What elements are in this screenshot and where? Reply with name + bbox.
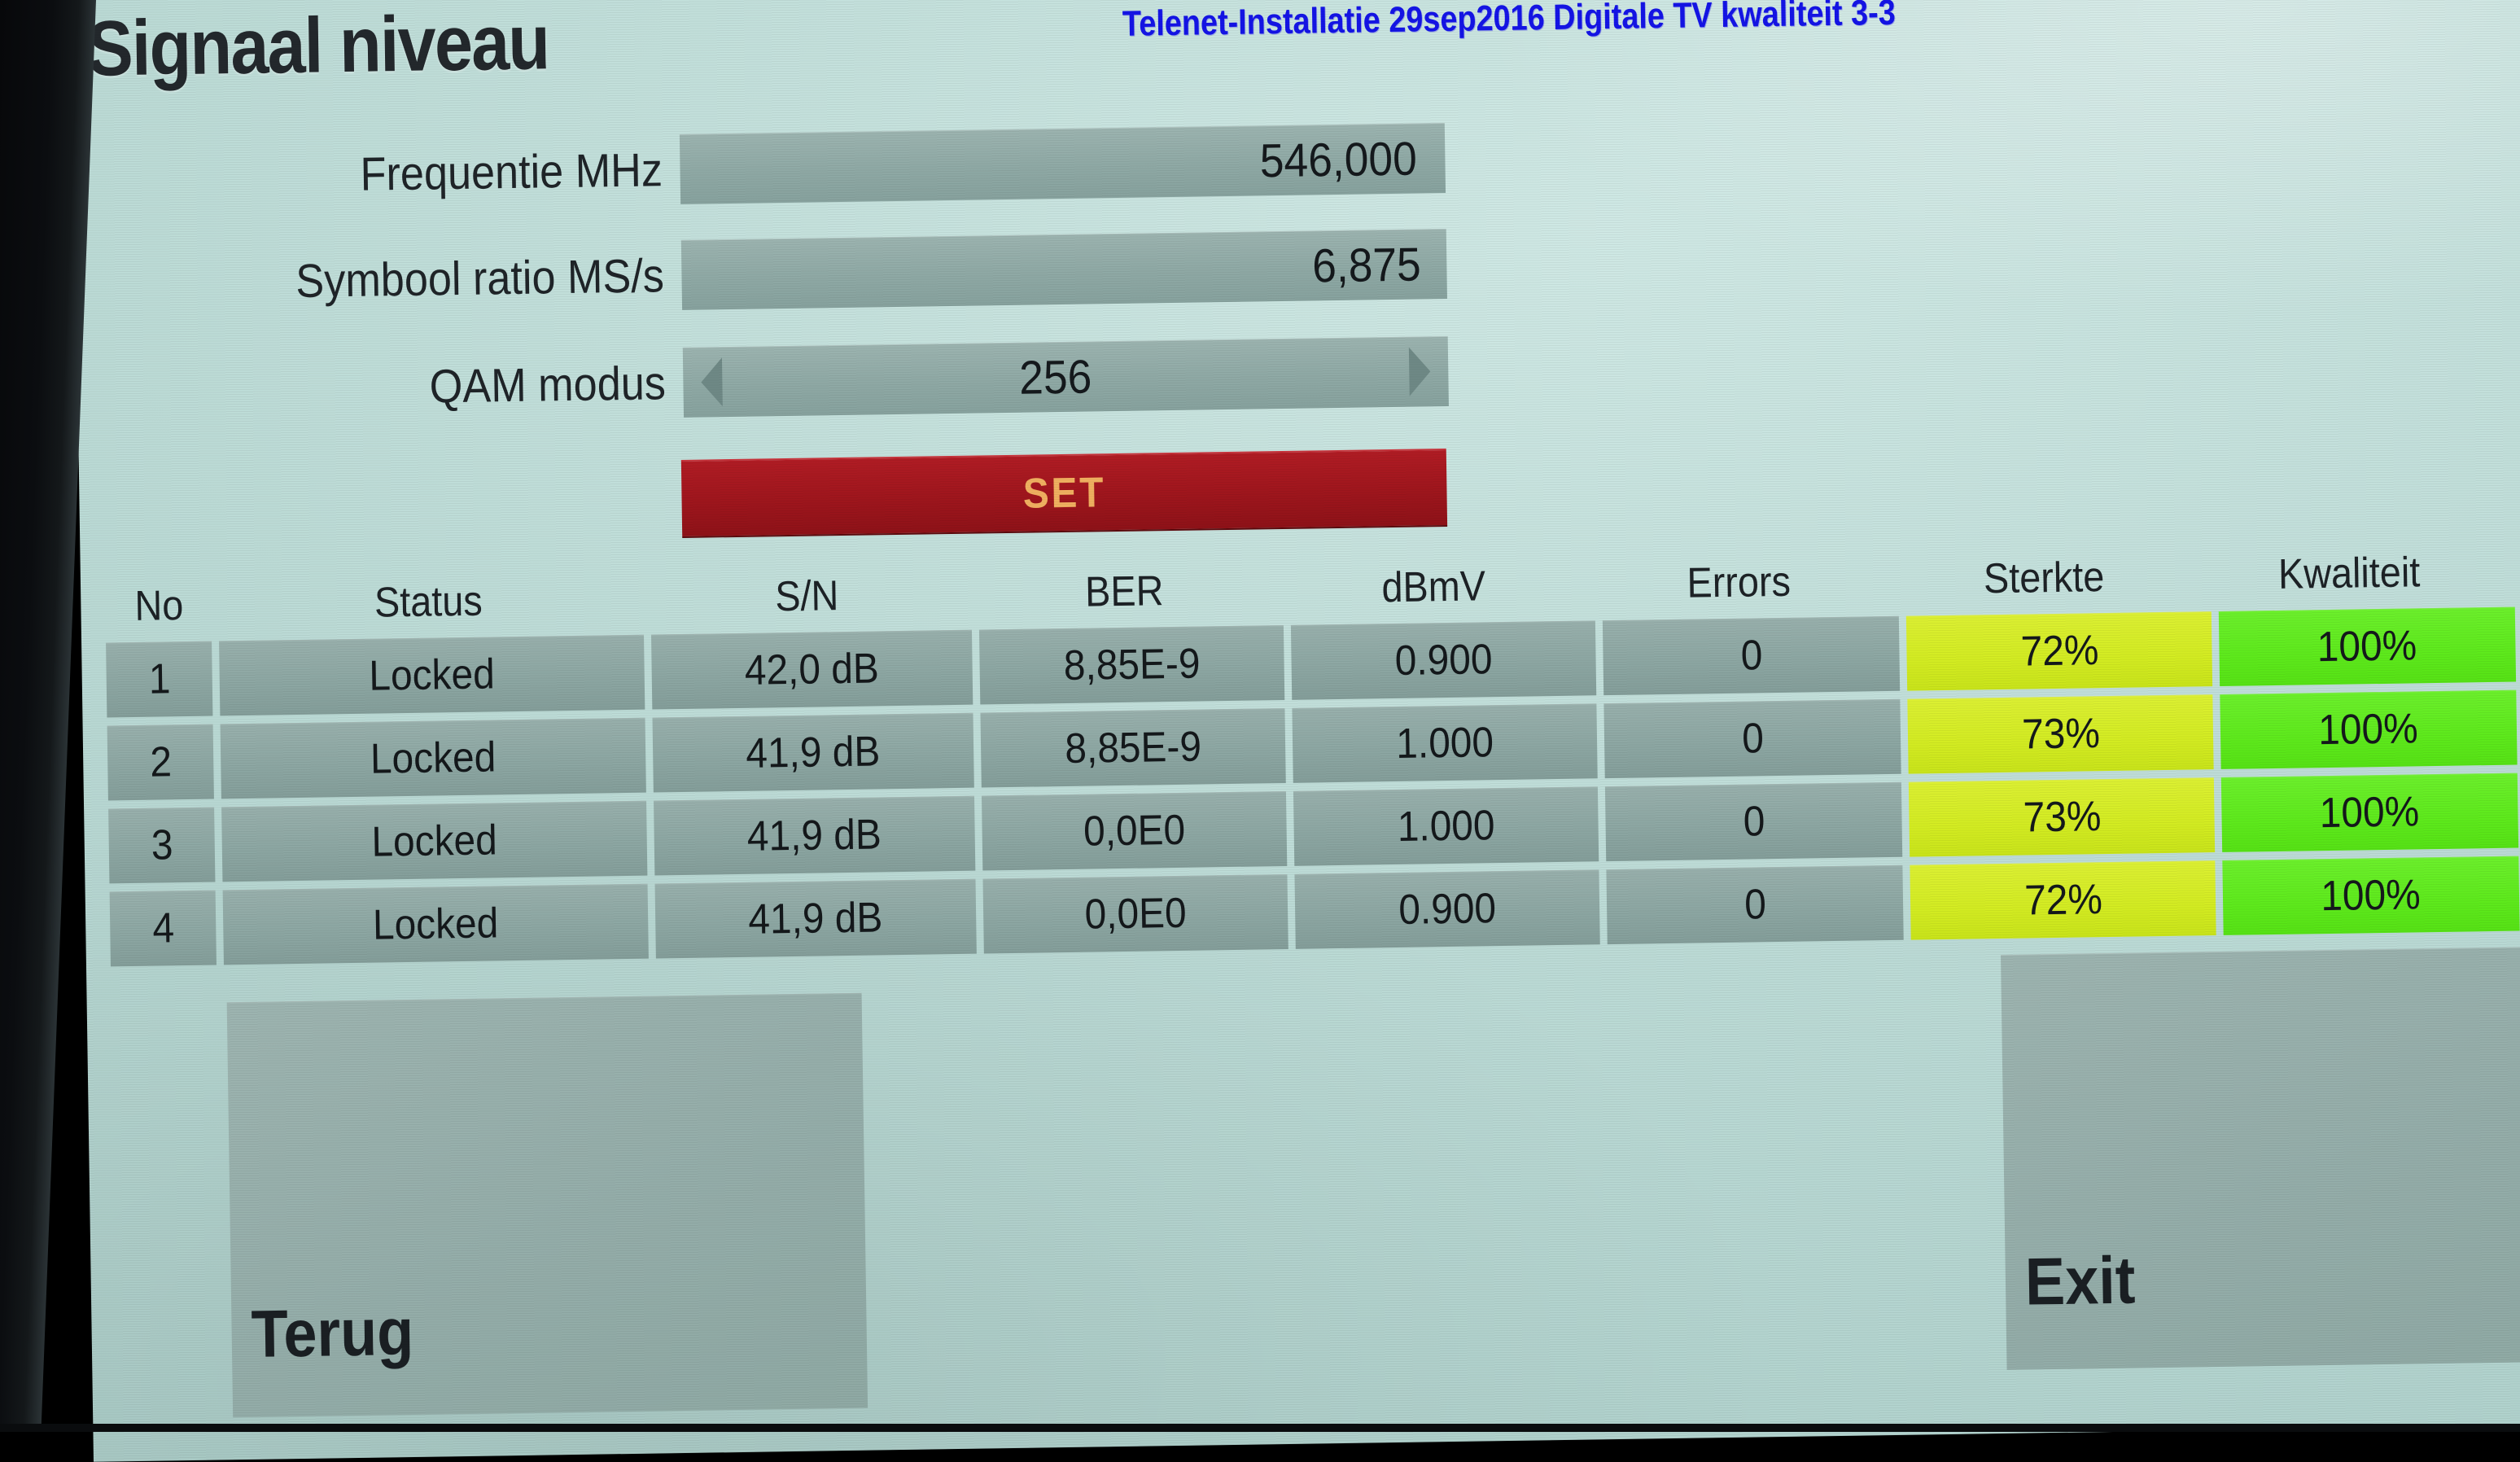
column-header-no: No	[111, 581, 208, 635]
cell-dbmv: 1.000	[1292, 703, 1598, 783]
cell-sn: 42,0 dB	[651, 630, 973, 710]
cell-errors: 0	[1607, 865, 1905, 944]
cell-kwaliteit: 100%	[2220, 690, 2518, 769]
cell-sn: 41,9 dB	[652, 713, 973, 793]
exit-button-label: Exit	[2024, 1243, 2136, 1321]
qam-mode-value: 256	[1018, 349, 1092, 405]
chevron-right-icon[interactable]	[1409, 347, 1431, 396]
cell-sterkte: 73%	[1909, 777, 2215, 857]
overlay-annotation-text: Telenet-Installatie 29sep2016 Digitale T…	[1122, 0, 1897, 45]
cell-ber: 0,0E0	[982, 874, 1288, 954]
qam-mode-label: QAM modus	[138, 355, 684, 418]
column-header-kwaliteit: Kwaliteit	[2213, 547, 2485, 603]
cell-status: Locked	[223, 884, 649, 965]
cell-no: 4	[110, 891, 217, 967]
symbol-rate-field[interactable]: 6,875	[681, 229, 1447, 310]
cell-kwaliteit: 100%	[2218, 607, 2516, 686]
cell-sterkte: 72%	[1910, 860, 2216, 940]
cell-dbmv: 0.900	[1294, 869, 1600, 949]
cell-status: Locked	[221, 718, 646, 799]
frequency-row: Frequentie MHz 546,000	[74, 123, 1446, 213]
set-button[interactable]: SET	[681, 449, 1447, 538]
cell-ber: 8,85E-9	[980, 708, 1286, 788]
tv-signal-level-screen: Signaal niveau Telenet-Installatie 29sep…	[72, 0, 2520, 1462]
cell-sn: 41,9 dB	[654, 879, 976, 959]
symbol-rate-row: Symbool ratio MS/s 6,875	[76, 229, 1447, 319]
screen-bezel-bottom	[0, 1424, 2520, 1432]
column-header-dbmv: dBmV	[1294, 561, 1573, 617]
cell-status: Locked	[219, 635, 645, 716]
cell-errors: 0	[1605, 782, 1903, 861]
cell-no: 3	[108, 808, 215, 884]
frequency-field[interactable]: 546,000	[680, 123, 1446, 204]
cell-kwaliteit: 100%	[2220, 773, 2518, 852]
cell-dbmv: 0.900	[1291, 620, 1597, 700]
column-header-ber: BER	[985, 565, 1264, 621]
chevron-left-icon[interactable]	[701, 357, 723, 406]
cell-sterkte: 72%	[1906, 611, 2212, 691]
set-button-label: SET	[1022, 468, 1105, 518]
symbol-rate-value: 6,875	[1312, 237, 1422, 293]
qam-mode-field[interactable]: 256	[683, 336, 1449, 418]
frequency-value: 546,000	[1260, 131, 1418, 188]
cell-no: 1	[106, 641, 212, 718]
cell-ber: 0,0E0	[982, 791, 1288, 871]
cell-sterkte: 73%	[1908, 694, 2214, 774]
column-header-sn: S/N	[660, 570, 954, 626]
screen-bezel-left	[0, 0, 96, 1432]
qam-mode-row: QAM modus 256	[77, 336, 1449, 427]
symbol-rate-label: Symbool ratio MS/s	[136, 247, 682, 310]
frequency-label: Frequentie MHz	[134, 142, 680, 204]
cell-kwaliteit: 100%	[2222, 856, 2520, 935]
cell-errors: 0	[1604, 699, 1902, 778]
cell-errors: 0	[1603, 616, 1901, 695]
page-title: Signaal niveau	[86, 0, 549, 94]
cell-dbmv: 1.000	[1293, 786, 1599, 866]
cell-sn: 41,9 dB	[654, 796, 975, 876]
cell-status: Locked	[221, 801, 647, 882]
back-button-label: Terug	[251, 1294, 414, 1373]
signal-table: No Status S/N BER dBmV Errors Sterkte Kw…	[105, 547, 2520, 975]
column-header-sterkte: Sterkte	[1905, 552, 2184, 608]
column-header-status: Status	[234, 575, 623, 633]
cell-ber: 8,85E-9	[979, 625, 1285, 705]
column-header-errors: Errors	[1603, 556, 1875, 612]
cell-no: 2	[107, 724, 214, 801]
